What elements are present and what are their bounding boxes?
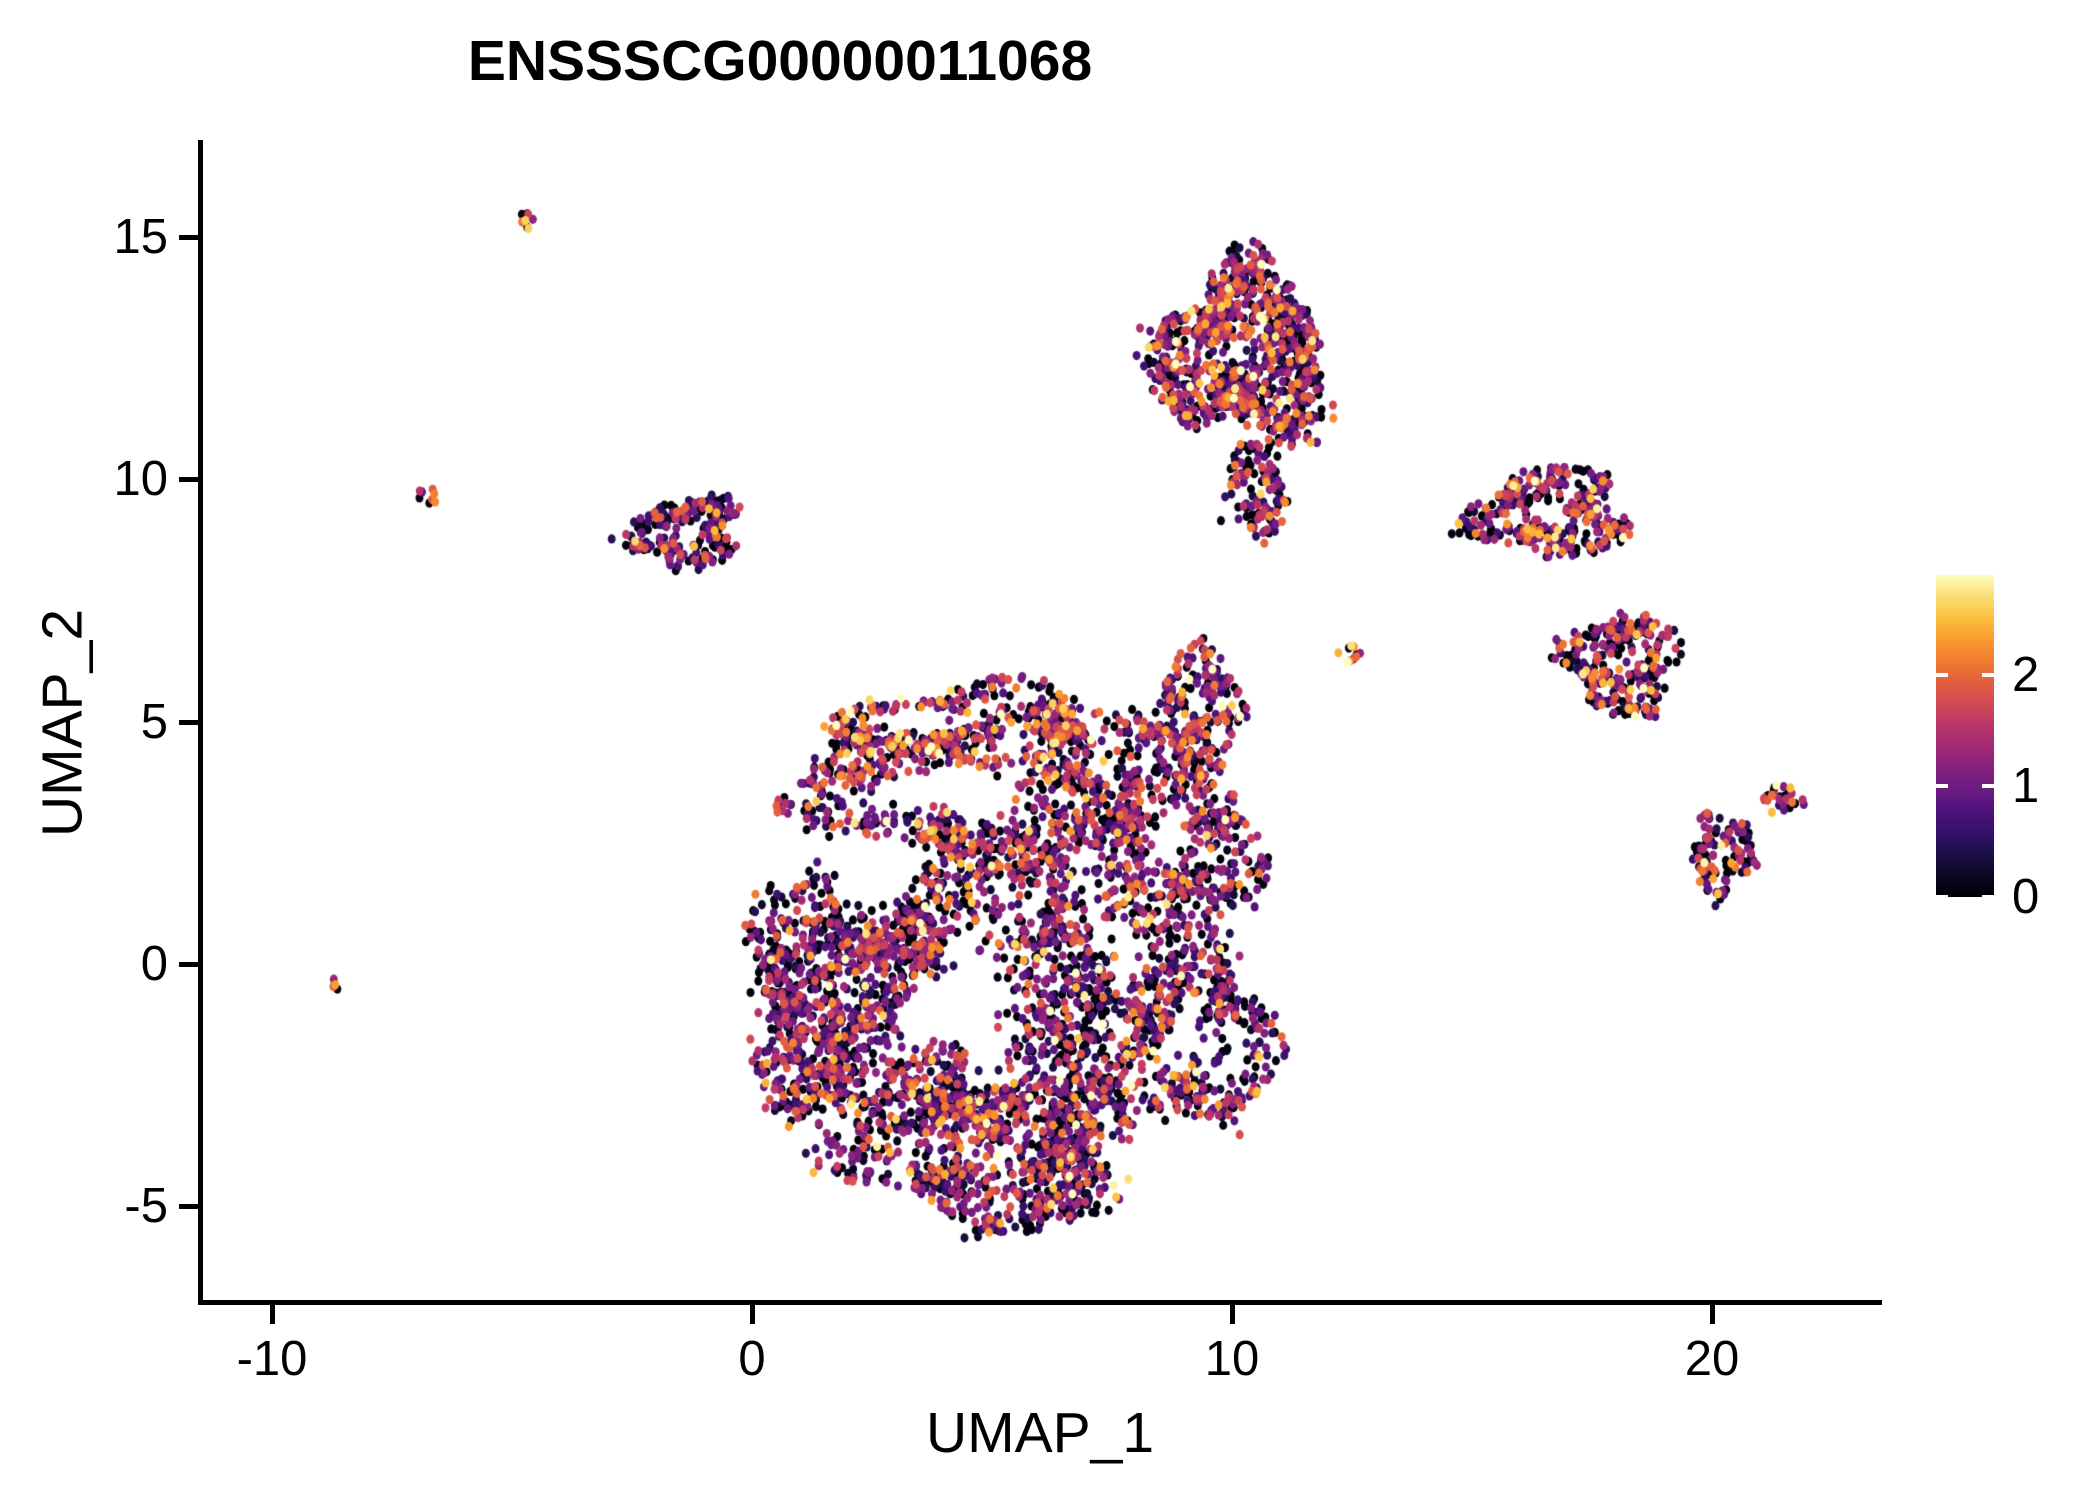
- x-tick-label: -10: [237, 1331, 308, 1387]
- x-axis-line: [198, 1300, 1882, 1305]
- x-tick-mark: [750, 1305, 755, 1324]
- y-tick-mark: [179, 1204, 198, 1209]
- y-tick-label: -5: [124, 1178, 168, 1234]
- y-tick-mark: [179, 962, 198, 967]
- y-tick-mark: [179, 235, 198, 240]
- x-tick-label: 10: [1205, 1331, 1260, 1387]
- scatter-points-canvas: [200, 140, 1880, 1303]
- colorbar-gradient: [1936, 575, 1994, 897]
- colorbar-tick-mark: [1936, 784, 1948, 788]
- colorbar-tick-mark: [1982, 784, 1994, 788]
- y-tick-label: 5: [141, 694, 168, 750]
- umap-feature-plot: ENSSSCG00000011068 -5051015 -1001020 UMA…: [0, 0, 2100, 1500]
- plot-panel: [200, 140, 1880, 1303]
- color-legend: 210: [1936, 575, 2096, 905]
- y-tick-label: 15: [113, 209, 168, 265]
- colorbar-tick-mark: [1982, 895, 1994, 899]
- page-title: ENSSSCG00000011068: [0, 28, 1560, 94]
- x-tick-label: 20: [1685, 1331, 1740, 1387]
- x-tick-mark: [1230, 1305, 1235, 1324]
- y-axis-title: UMAP_2: [30, 141, 96, 1306]
- colorbar-tick-mark: [1936, 895, 1948, 899]
- x-tick-mark: [270, 1305, 275, 1324]
- y-tick-mark: [179, 720, 198, 725]
- y-tick-label: 0: [141, 936, 168, 992]
- colorbar-tick-mark: [1982, 673, 1994, 677]
- y-tick-mark: [179, 477, 198, 482]
- x-tick-label: 0: [738, 1331, 765, 1387]
- colorbar-tick-label: 2: [2012, 647, 2039, 703]
- colorbar-tick-mark: [1936, 673, 1948, 677]
- y-axis-line: [198, 140, 203, 1305]
- colorbar-tick-label: 0: [2012, 869, 2039, 925]
- y-tick-label: 10: [113, 451, 168, 507]
- colorbar-tick-label: 1: [2012, 758, 2039, 814]
- x-axis-title: UMAP_1: [198, 1400, 1882, 1466]
- x-tick-mark: [1710, 1305, 1715, 1324]
